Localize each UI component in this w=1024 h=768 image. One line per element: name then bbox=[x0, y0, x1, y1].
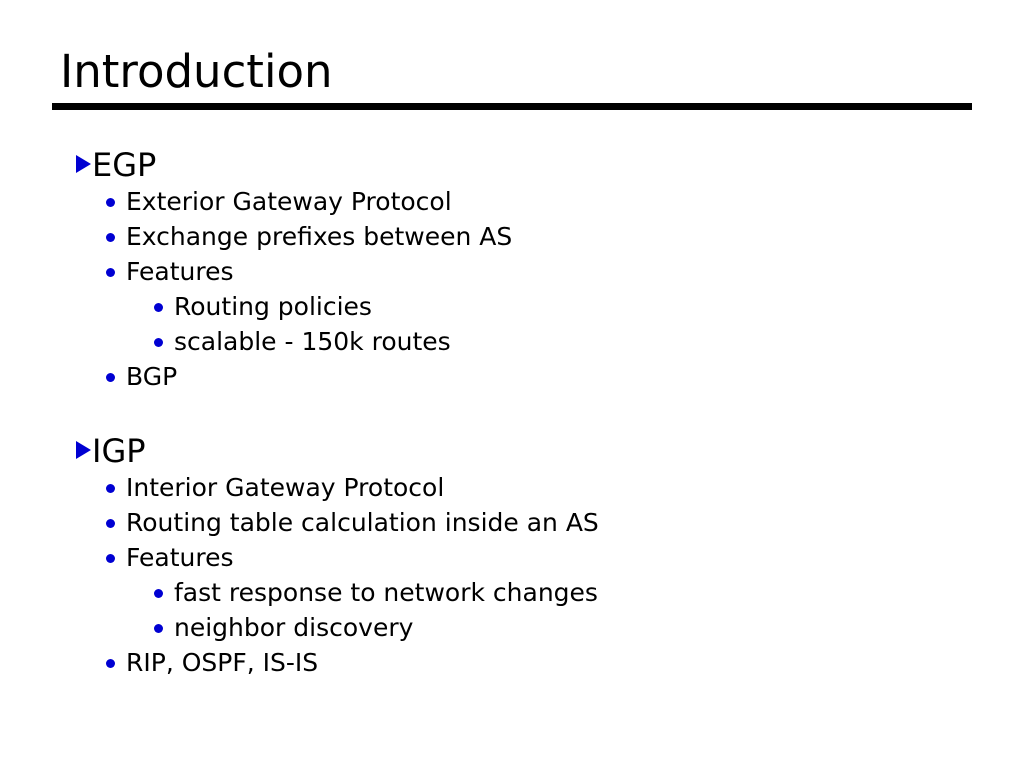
outline-group-egp: EGP Exterior Gateway Protocol Exchange p… bbox=[60, 146, 1000, 394]
dot-bullet-icon bbox=[60, 373, 126, 382]
outline-heading-egp[interactable]: EGP bbox=[60, 146, 1000, 184]
outline-group-igp: IGP Interior Gateway Protocol Routing ta… bbox=[60, 432, 1000, 680]
list-item-label: scalable - 150k routes bbox=[174, 325, 451, 359]
list-item-label: Exterior Gateway Protocol bbox=[126, 185, 452, 219]
slide-title-block: Introduction bbox=[52, 44, 972, 110]
outline-heading-label: IGP bbox=[90, 432, 146, 470]
slide-body-outline: EGP Exterior Gateway Protocol Exchange p… bbox=[60, 146, 1000, 680]
dot-bullet-icon bbox=[60, 484, 126, 493]
list-item[interactable]: Interior Gateway Protocol bbox=[60, 471, 1000, 505]
list-item[interactable]: Routing table calculation inside an AS bbox=[60, 506, 1000, 540]
list-item[interactable]: RIP, OSPF, IS-IS bbox=[60, 646, 1000, 680]
dot-bullet-icon bbox=[60, 519, 126, 528]
title-underline-rule bbox=[52, 103, 972, 110]
outline-group-spacer bbox=[60, 394, 1000, 432]
dot-bullet-icon bbox=[60, 659, 126, 668]
list-item[interactable]: Features bbox=[60, 255, 1000, 289]
presentation-slide: Introduction EGP Exterior Gateway Protoc… bbox=[0, 0, 1024, 768]
dot-bullet-icon bbox=[60, 198, 126, 207]
list-item[interactable]: Routing policies bbox=[60, 290, 1000, 324]
dot-bullet-icon bbox=[60, 338, 174, 347]
list-item[interactable]: Features bbox=[60, 541, 1000, 575]
list-item-label: BGP bbox=[126, 360, 177, 394]
list-item-label: Exchange prefixes between AS bbox=[126, 220, 512, 254]
list-item-label: Features bbox=[126, 255, 234, 289]
list-item-label: fast response to network changes bbox=[174, 576, 598, 610]
triangle-bullet-icon bbox=[60, 441, 90, 459]
list-item[interactable]: Exterior Gateway Protocol bbox=[60, 185, 1000, 219]
dot-bullet-icon bbox=[60, 233, 126, 242]
dot-bullet-icon bbox=[60, 624, 174, 633]
triangle-bullet-icon bbox=[60, 155, 90, 173]
list-item-label: Routing policies bbox=[174, 290, 372, 324]
list-item-label: RIP, OSPF, IS-IS bbox=[126, 646, 318, 680]
outline-heading-igp[interactable]: IGP bbox=[60, 432, 1000, 470]
list-item[interactable]: neighbor discovery bbox=[60, 611, 1000, 645]
outline-heading-label: EGP bbox=[90, 146, 156, 184]
list-item-label: Interior Gateway Protocol bbox=[126, 471, 444, 505]
list-item[interactable]: fast response to network changes bbox=[60, 576, 1000, 610]
dot-bullet-icon bbox=[60, 268, 126, 277]
page-title: Introduction bbox=[52, 44, 972, 100]
list-item-label: Routing table calculation inside an AS bbox=[126, 506, 599, 540]
list-item-label: neighbor discovery bbox=[174, 611, 413, 645]
list-item[interactable]: BGP bbox=[60, 360, 1000, 394]
dot-bullet-icon bbox=[60, 303, 174, 312]
dot-bullet-icon bbox=[60, 589, 174, 598]
list-item[interactable]: Exchange prefixes between AS bbox=[60, 220, 1000, 254]
list-item[interactable]: scalable - 150k routes bbox=[60, 325, 1000, 359]
list-item-label: Features bbox=[126, 541, 234, 575]
dot-bullet-icon bbox=[60, 554, 126, 563]
